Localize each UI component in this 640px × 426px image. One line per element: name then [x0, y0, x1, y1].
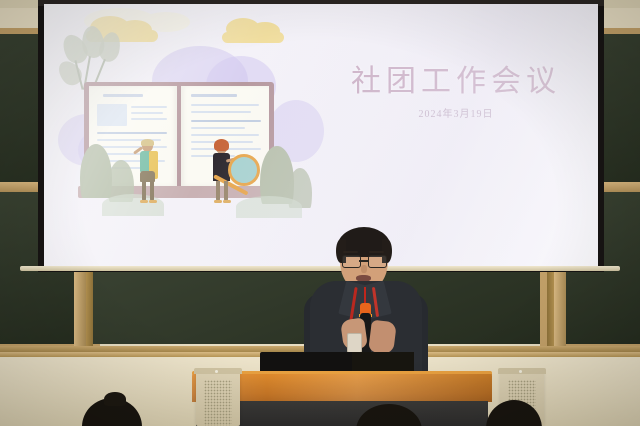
audience-hair-bun-left [104, 392, 126, 406]
speaker-led-left [215, 370, 218, 373]
figure-leg-right [150, 181, 154, 201]
page-line [191, 127, 245, 129]
figure-leg-left [216, 181, 220, 201]
figure-hair [214, 139, 229, 151]
page-line [131, 112, 163, 114]
figure-hair [141, 139, 154, 146]
page-line [191, 134, 259, 136]
classroom-photo-scene: 社团工作会议 2024年3月19日 [0, 0, 640, 426]
page-line [191, 94, 237, 97]
page-image-block [97, 104, 127, 126]
figure-leg-right [224, 181, 228, 201]
magnifying-glass [228, 154, 260, 186]
figure-with-magnifier [208, 140, 254, 204]
presenter-eyebrow-right [369, 251, 384, 253]
page-line [191, 104, 259, 106]
figure-shoe-right [149, 200, 157, 203]
glasses-bridge [359, 260, 368, 262]
page-line [191, 120, 261, 122]
glasses-lens-right [368, 255, 387, 268]
figure-shoe-left [214, 200, 222, 203]
wall-speaker-right-top [498, 368, 546, 374]
yellow-cloud-base-2 [222, 32, 284, 43]
page-line [191, 111, 251, 113]
slide-date: 2024年3月19日 [336, 105, 576, 120]
page-line [131, 106, 167, 108]
name-badge [347, 333, 362, 353]
slide-title: 社团工作会议 [336, 56, 576, 100]
figure-shoe-right [223, 200, 231, 203]
wall-speaker-left-top [194, 368, 242, 374]
speaker-led-right [519, 370, 522, 373]
presenter-eyebrow-left [343, 251, 358, 253]
figure-leg-left [142, 181, 146, 201]
page-line [103, 94, 143, 97]
page-line [97, 132, 167, 134]
slide-illustration [56, 4, 316, 234]
presenter-nose [361, 265, 367, 273]
figure-pointing [134, 140, 164, 204]
page-line [131, 118, 167, 120]
speaker-grille-left [204, 380, 232, 426]
figure-shoe-left [140, 200, 148, 203]
